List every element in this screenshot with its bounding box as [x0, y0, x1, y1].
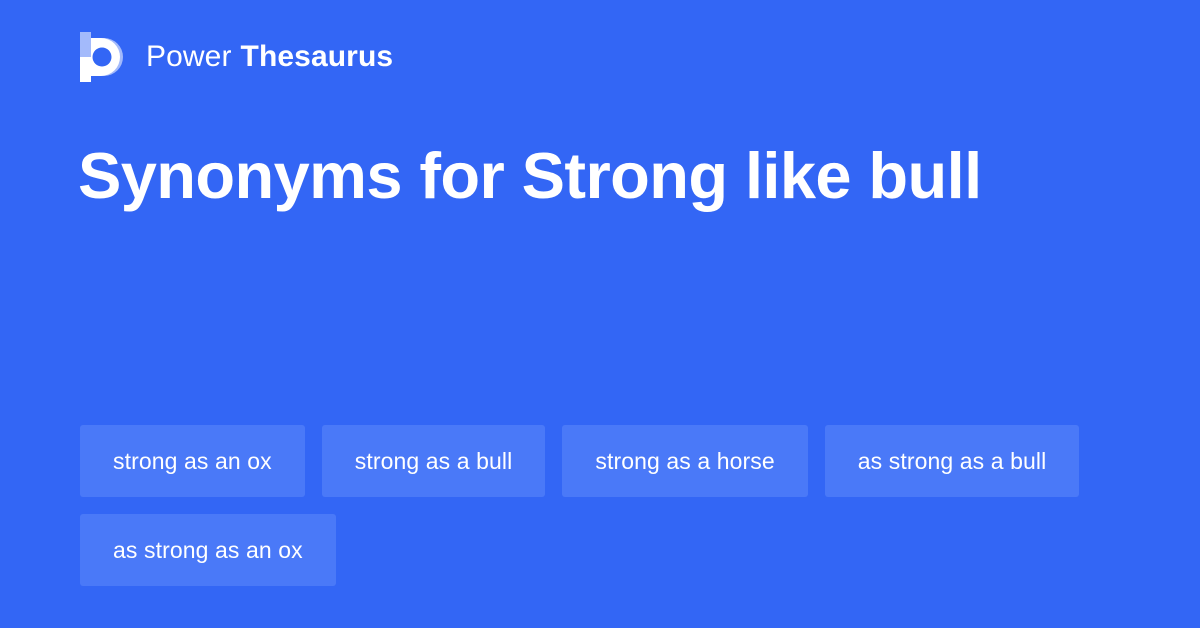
synonym-chip-list: strong as an ox strong as a bull strong …	[80, 425, 1120, 586]
brand-name-part-one: Power	[146, 42, 232, 72]
synonym-chip[interactable]: as strong as an ox	[80, 514, 336, 586]
synonym-chip[interactable]: strong as a horse	[562, 425, 807, 497]
synonym-chip[interactable]: as strong as a bull	[825, 425, 1080, 497]
synonym-chip[interactable]: strong as a bull	[322, 425, 546, 497]
share-card: Power Thesaurus Synonyms for Strong like…	[0, 0, 1200, 628]
power-thesaurus-logo-icon	[80, 32, 127, 82]
brand-name: Power Thesaurus	[146, 42, 393, 72]
brand-name-part-two: Thesaurus	[241, 42, 394, 72]
brand-header[interactable]: Power Thesaurus	[80, 31, 393, 83]
synonym-chip[interactable]: strong as an ox	[80, 425, 305, 497]
page-title: Synonyms for Strong like bull	[78, 141, 1088, 211]
